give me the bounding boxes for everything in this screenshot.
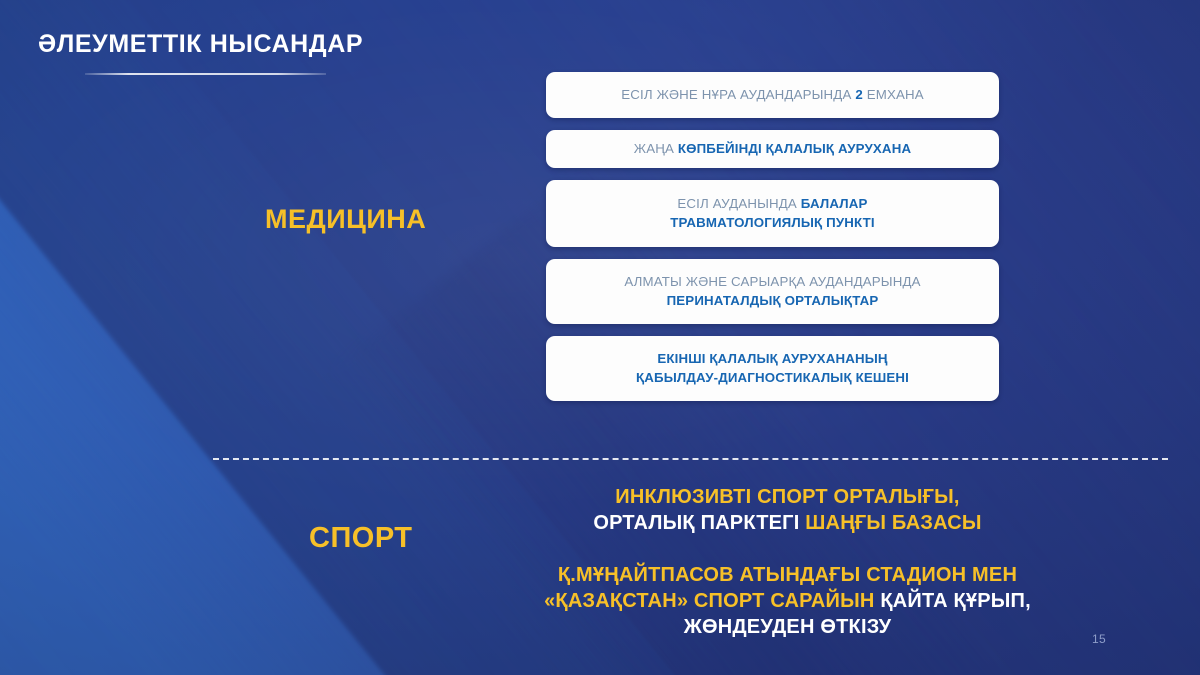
page-title: ӘЛЕУМЕТТІК НЫСАНДАР bbox=[38, 30, 363, 59]
section-label-medicine: МЕДИЦИНА bbox=[265, 204, 426, 235]
card-text: ЕСІЛ ЖӘНЕ НҰРА АУДАНДАРЫНДА 2 ЕМХАНА bbox=[621, 86, 924, 105]
medicine-card[interactable]: ЕСІЛ ЖӘНЕ НҰРА АУДАНДАРЫНДА 2 ЕМХАНА bbox=[546, 72, 999, 118]
card-text: ЕСІЛ АУДАНЫНДА БАЛАЛАРТРАВМАТОЛОГИЯЛЫҚ П… bbox=[670, 195, 874, 233]
sport-paragraph: ИНКЛЮЗИВТІ СПОРТ ОРТАЛЫҒЫ,ОРТАЛЫҚ ПАРКТЕ… bbox=[430, 484, 1145, 536]
medicine-card[interactable]: ЕСІЛ АУДАНЫНДА БАЛАЛАРТРАВМАТОЛОГИЯЛЫҚ П… bbox=[546, 180, 999, 247]
card-text: АЛМАТЫ ЖӘНЕ САРЫАРҚА АУДАНДАРЫНДАПЕРИНАТ… bbox=[624, 273, 920, 311]
page-number: 15 bbox=[1092, 632, 1106, 646]
card-text: ЕКІНШІ ҚАЛАЛЫҚ АУРУХАНАНЫҢҚАБЫЛДАУ-ДИАГН… bbox=[636, 350, 909, 388]
medicine-card[interactable]: АЛМАТЫ ЖӘНЕ САРЫАРҚА АУДАНДАРЫНДАПЕРИНАТ… bbox=[546, 259, 999, 324]
medicine-card-list: ЕСІЛ ЖӘНЕ НҰРА АУДАНДАРЫНДА 2 ЕМХАНА ЖАҢ… bbox=[546, 72, 999, 413]
sport-paragraph: Қ.МҰҢАЙТПАСОВ АТЫНДАҒЫ СТАДИОН МЕН«ҚАЗАҚ… bbox=[430, 562, 1145, 640]
sport-text-block: ИНКЛЮЗИВТІ СПОРТ ОРТАЛЫҒЫ,ОРТАЛЫҚ ПАРКТЕ… bbox=[430, 484, 1145, 640]
sport-paragraph-text: ИНКЛЮЗИВТІ СПОРТ ОРТАЛЫҒЫ,ОРТАЛЫҚ ПАРКТЕ… bbox=[430, 484, 1145, 536]
card-text: ЖАҢА КӨПБЕЙІНДІ ҚАЛАЛЫҚ АУРУХАНА bbox=[634, 140, 911, 159]
sport-paragraph-text: Қ.МҰҢАЙТПАСОВ АТЫНДАҒЫ СТАДИОН МЕН«ҚАЗАҚ… bbox=[430, 562, 1145, 640]
section-label-sport: СПОРТ bbox=[309, 522, 413, 555]
medicine-card[interactable]: ЖАҢА КӨПБЕЙІНДІ ҚАЛАЛЫҚ АУРУХАНА bbox=[546, 130, 999, 168]
title-underline-rule bbox=[85, 73, 326, 75]
section-divider bbox=[213, 458, 1168, 460]
presentation-slide: ӘЛЕУМЕТТІК НЫСАНДАР МЕДИЦИНА ЕСІЛ ЖӘНЕ Н… bbox=[0, 0, 1200, 675]
medicine-card[interactable]: ЕКІНШІ ҚАЛАЛЫҚ АУРУХАНАНЫҢҚАБЫЛДАУ-ДИАГН… bbox=[546, 336, 999, 401]
